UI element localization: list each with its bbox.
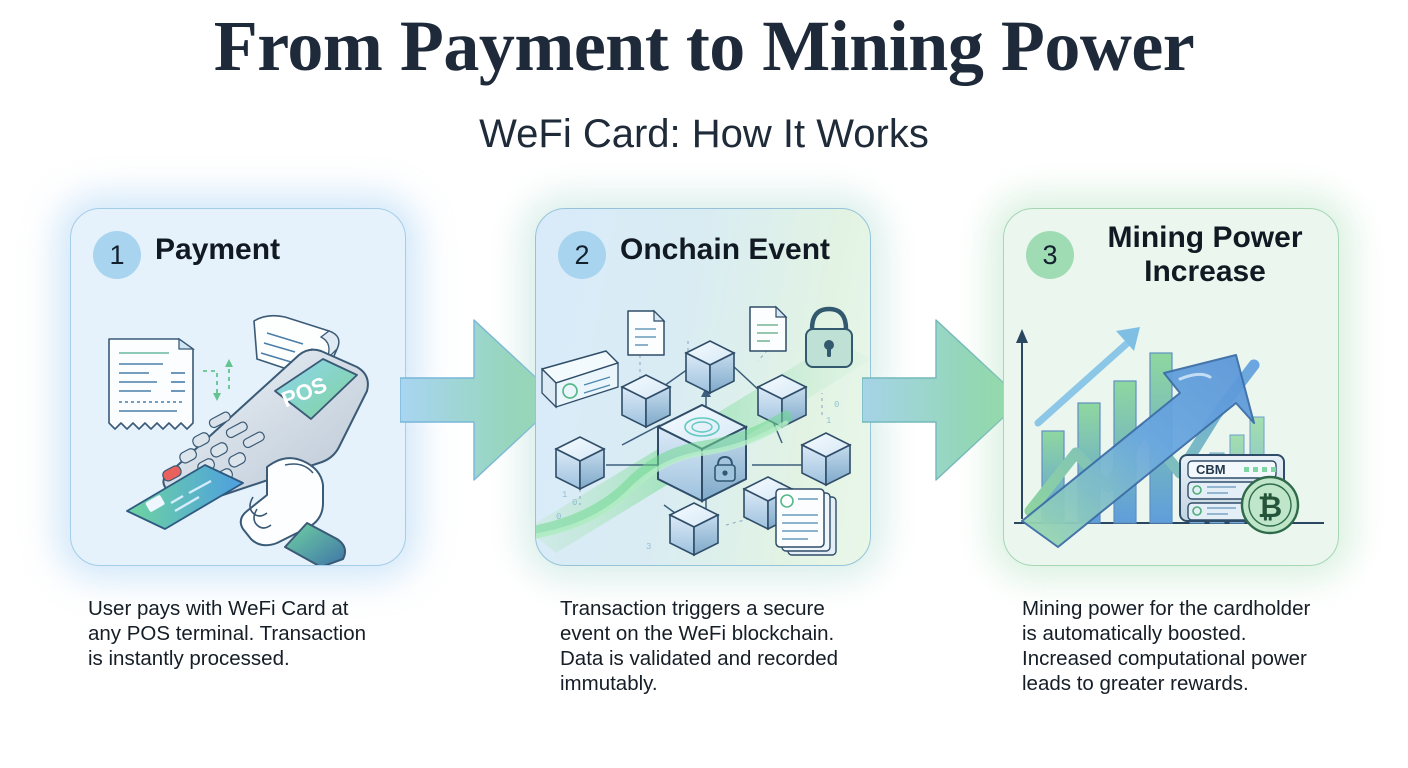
step-number-badge-1: 1 [93, 231, 141, 279]
caption-line: is automatically boosted. [1022, 621, 1332, 646]
step-title-3-line1: Mining Power [1096, 221, 1314, 255]
caption-line: leads to greater rewards. [1022, 671, 1332, 696]
flow-arrow-icons [203, 359, 233, 401]
step-title-3-line2: Increase [1096, 255, 1314, 289]
caption-line: event on the WeFi blockchain. [560, 621, 860, 646]
document-icon-2 [750, 307, 786, 351]
svg-text:0: 0 [572, 498, 577, 508]
caption-line: any POS terminal. Transaction [88, 621, 388, 646]
step-card-onchain-event[interactable]: 2 Onchain Event [535, 208, 871, 566]
caption-line: is instantly processed. [88, 646, 388, 671]
step-card-mining-power-increase[interactable]: 3 Mining Power Increase [1003, 208, 1339, 566]
bitcoin-symbol: ₿ [1258, 491, 1282, 524]
y-axis-arrowhead [1016, 329, 1028, 343]
page-title: From Payment to Mining Power [0, 6, 1408, 87]
record-card-icon [542, 351, 618, 407]
growth-chart-illustration: CBM ₿ [1004, 297, 1339, 566]
caption-line: Increased computational power [1022, 646, 1332, 671]
blockchain-network-illustration: 100 013 [536, 297, 871, 566]
svg-text:1: 1 [826, 416, 831, 426]
page-subtitle: WeFi Card: How It Works [0, 110, 1408, 158]
server-label: CBM [1196, 462, 1226, 477]
step-caption-2: Transaction triggers a secure event on t… [560, 596, 860, 696]
bitcoin-coin-icon: ₿ [1242, 477, 1298, 533]
step-title-1: Payment [155, 233, 391, 267]
step-title-3: Mining Power Increase [1096, 221, 1314, 289]
svg-text:1: 1 [562, 490, 567, 500]
receipt-left-icon [109, 339, 193, 429]
step-number-badge-2: 2 [558, 231, 606, 279]
svg-text:3: 3 [646, 542, 651, 552]
svg-text:0: 0 [834, 400, 839, 410]
caption-line: Transaction triggers a secure [560, 596, 860, 621]
caption-line: Data is validated and recorded [560, 646, 860, 671]
infographic-canvas: From Payment to Mining Power WeFi Card: … [0, 0, 1408, 768]
document-icon-1 [628, 311, 664, 355]
caption-line: Mining power for the cardholder [1022, 596, 1332, 621]
step-title-2: Onchain Event [620, 233, 856, 267]
padlock-icon [806, 309, 852, 367]
caption-line: immutably. [560, 671, 860, 696]
step-number-badge-3: 3 [1026, 231, 1074, 279]
caption-line: User pays with WeFi Card at [88, 596, 388, 621]
pos-terminal-illustration: POS [71, 297, 406, 566]
ledger-documents-icon [776, 489, 836, 555]
step-caption-3: Mining power for the cardholder is autom… [1022, 596, 1332, 696]
step-caption-1: User pays with WeFi Card at any POS term… [88, 596, 388, 671]
step-card-payment[interactable]: 1 Payment [70, 208, 406, 566]
svg-text:0: 0 [556, 512, 561, 522]
